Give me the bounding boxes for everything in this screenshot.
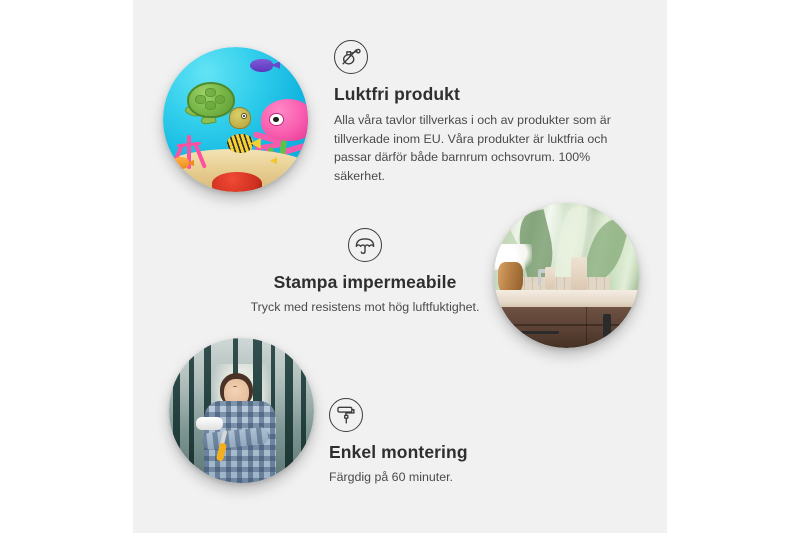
bathroom-artwork xyxy=(494,203,639,348)
feature-description: Tryck med resistens mot hög luftfuktighe… xyxy=(215,298,515,317)
fish-orange xyxy=(172,157,189,169)
octopus-head xyxy=(261,99,308,141)
forest-artwork xyxy=(169,338,314,483)
tree-trunk xyxy=(173,338,180,483)
tile-backsplash xyxy=(509,277,611,290)
fish-yellow-striped xyxy=(227,134,253,153)
wooden-vanity xyxy=(497,307,639,348)
feature-block-easy-mounting: Enkel montering Färgdig på 60 minuter. xyxy=(329,398,609,487)
feature-block-odor-free: Luktfri produkt Alla våra tavlor tillver… xyxy=(334,40,630,186)
fish-yellow-small xyxy=(253,154,272,167)
cabinet-handle xyxy=(603,314,610,339)
drawer-pull xyxy=(521,331,559,334)
sea-turtle xyxy=(183,82,250,131)
bottle-small xyxy=(545,267,555,289)
content-panel: Luktfri produkt Alla våra tavlor tillver… xyxy=(133,0,667,533)
no-fragrance-icon xyxy=(334,40,368,74)
paint-roller-sleeve xyxy=(196,417,223,430)
feature-title: Luktfri produkt xyxy=(334,83,630,106)
paint-roller-icon xyxy=(329,398,363,432)
feature-block-waterproof-print: Stampa impermeabile Tryck med resistens … xyxy=(215,228,515,317)
woman-figure xyxy=(201,373,279,483)
turtle-head xyxy=(229,107,252,129)
tree-trunk xyxy=(301,338,306,483)
turtle-shell xyxy=(187,82,235,118)
fish-blue xyxy=(250,59,273,72)
underwater-artwork xyxy=(163,47,308,192)
tree-trunk xyxy=(189,338,193,483)
soap-dispenser xyxy=(571,257,587,290)
faucet xyxy=(538,271,541,286)
feature-description: Alla våra tavlor tillverkas i och av pro… xyxy=(334,111,630,186)
feature-image-underwater-kids-mural xyxy=(163,47,308,192)
tree-trunk xyxy=(285,338,293,483)
feature-description: Färgdig på 60 minuter. xyxy=(329,468,609,487)
feature-image-woman-with-paint-roller-forest-mural xyxy=(169,338,314,483)
crab xyxy=(212,172,261,192)
feature-image-bathroom-botanical-mural xyxy=(494,203,639,348)
product-feature-infographic: Luktfri produkt Alla våra tavlor tillver… xyxy=(0,0,800,533)
feature-title: Stampa impermeabile xyxy=(215,271,515,294)
umbrella-icon xyxy=(348,228,382,262)
feature-title: Enkel montering xyxy=(329,441,609,464)
